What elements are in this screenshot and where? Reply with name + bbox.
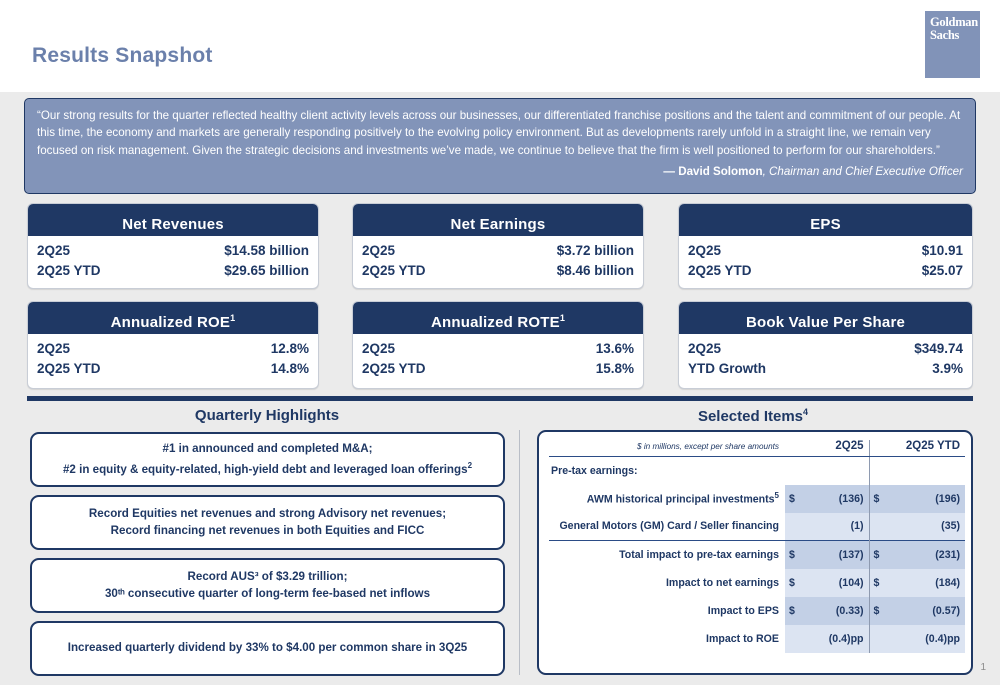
metric-title-footnote: 1 [560, 313, 565, 323]
row-label: AWM historical principal investments5 [549, 485, 785, 513]
metric-row: 2Q2512.8% [37, 339, 309, 359]
metric-row-label: 2Q25 YTD [37, 261, 101, 281]
metric-row-label: 2Q25 [37, 339, 70, 359]
row-label: Impact to net earnings [549, 569, 785, 597]
row-value-2q25: (0.33) [802, 597, 869, 625]
row-currency [785, 513, 802, 541]
metric-card-net-revenues: Net Revenues 2Q25$14.58 billion 2Q25 YTD… [27, 203, 319, 289]
column-header-2q25-ytd: 2Q25 YTD [869, 440, 965, 457]
metric-row: 2Q25 YTD$29.65 billion [37, 261, 309, 281]
metric-row: 2Q25 YTD15.8% [362, 359, 634, 379]
metric-row-label: 2Q25 YTD [362, 359, 426, 379]
highlight-line-2: #2 in equity & equity-related, high-yiel… [63, 462, 468, 475]
row-value-ytd: (231) [886, 541, 965, 569]
ceo-quote-text: “Our strong results for the quarter refl… [37, 107, 963, 159]
table-row: General Motors (GM) Card / Seller financ… [549, 513, 965, 541]
highlight-line-2: 30ᵗʰ consecutive quarter of long-term fe… [105, 587, 430, 600]
highlight-text: Record AUS³ of $3.29 trillion; 30ᵗʰ cons… [105, 569, 430, 602]
row-label-text: Impact to EPS [708, 605, 779, 617]
metric-row-value: 12.8% [271, 339, 309, 359]
metric-row-label: 2Q25 YTD [37, 359, 101, 379]
table-row: Impact to EPS $ (0.33) $ (0.57) [549, 597, 965, 625]
quote-author-name: David Solomon [678, 165, 762, 178]
row-label-text: Impact to net earnings [666, 577, 779, 589]
row-label-text: Impact to ROE [706, 633, 779, 645]
spacer-cell [785, 457, 802, 485]
slide-header: Results Snapshot Goldman Sachs [0, 0, 1000, 92]
metric-card-body: 2Q25$14.58 billion 2Q25 YTD$29.65 billio… [28, 236, 318, 286]
spacer-cell [869, 457, 886, 485]
highlight-line-1: #1 in announced and completed M&A; [163, 442, 373, 455]
goldman-sachs-logo: Goldman Sachs [925, 11, 980, 78]
metric-card-body: 2Q25$3.72 billion 2Q25 YTD$8.46 billion [353, 236, 643, 286]
section-divider-bar [27, 396, 973, 401]
metric-card-title: Annualized ROTE1 [353, 302, 643, 334]
selected-items-title: Selected Items4 [533, 407, 973, 425]
units-note: $ in millions, except per share amounts [549, 440, 785, 457]
column-header-2q25: 2Q25 [785, 440, 869, 457]
metric-row-value: $3.72 billion [557, 241, 634, 261]
metric-row-value: 14.8% [271, 359, 309, 379]
metric-row-value: $25.07 [922, 261, 963, 281]
row-value-2q25: (1) [802, 513, 869, 541]
quote-author-role: , Chairman and Chief Executive Officer [763, 165, 963, 178]
row-value-ytd: (196) [886, 485, 965, 513]
row-label: General Motors (GM) Card / Seller financ… [549, 513, 785, 541]
metric-title-text: Annualized ROTE [431, 314, 560, 331]
metric-card-annualized-rote: Annualized ROTE1 2Q2513.6% 2Q25 YTD15.8% [352, 301, 644, 389]
ceo-quote-attribution: — David Solomon, Chairman and Chief Exec… [37, 165, 963, 178]
metric-row-label: 2Q25 [688, 241, 721, 261]
metric-title-text: EPS [810, 216, 841, 233]
slide-root: Results Snapshot Goldman Sachs “Our stro… [0, 0, 1000, 685]
metric-title-footnote: 1 [230, 313, 235, 323]
selected-items-card: $ in millions, except per share amounts … [537, 430, 973, 675]
table-row: Total impact to pre-tax earnings $ (137)… [549, 541, 965, 569]
metric-row-value: 3.9% [932, 359, 963, 379]
metric-row: 2Q25 YTD14.8% [37, 359, 309, 379]
metric-row: YTD Growth3.9% [688, 359, 963, 379]
metric-title-text: Net Earnings [451, 216, 546, 233]
highlight-text: #1 in announced and completed M&A; #2 in… [63, 441, 472, 478]
spacer-cell [802, 457, 869, 485]
metric-card-net-earnings: Net Earnings 2Q25$3.72 billion 2Q25 YTD$… [352, 203, 644, 289]
ceo-quote-box: “Our strong results for the quarter refl… [24, 98, 976, 194]
quote-dash: — [663, 165, 678, 178]
metric-card-title: Net Revenues [28, 204, 318, 236]
vertical-divider [519, 430, 520, 675]
selected-items-table: $ in millions, except per share amounts … [549, 440, 965, 653]
metric-title-text: Book Value Per Share [746, 314, 905, 331]
row-label: Impact to ROE [549, 625, 785, 653]
metric-row: 2Q25$14.58 billion [37, 241, 309, 261]
row-label-text: General Motors (GM) Card / Seller financ… [559, 520, 779, 532]
table-row: Impact to ROE (0.4)pp (0.4)pp [549, 625, 965, 653]
highlight-text: Increased quarterly dividend by 33% to $… [68, 640, 468, 657]
row-currency: $ [869, 541, 886, 569]
metric-card-annualized-roe: Annualized ROE1 2Q2512.8% 2Q25 YTD14.8% [27, 301, 319, 389]
metric-row-value: $10.91 [922, 241, 963, 261]
metric-row-value: $14.58 billion [224, 241, 309, 261]
row-currency: $ [869, 569, 886, 597]
highlight-item: Increased quarterly dividend by 33% to $… [30, 621, 505, 676]
metric-row-label: 2Q25 YTD [688, 261, 752, 281]
metric-card-book-value-per-share: Book Value Per Share 2Q25$349.74 YTD Gro… [678, 301, 973, 389]
row-value-ytd: (0.4)pp [886, 625, 965, 653]
metric-row-value: $8.46 billion [557, 261, 634, 281]
metric-row: 2Q25$349.74 [688, 339, 963, 359]
table-row: Impact to net earnings $ (104) $ (184) [549, 569, 965, 597]
metric-row-label: YTD Growth [688, 359, 766, 379]
selected-items-title-text: Selected Items [698, 408, 803, 425]
row-value-2q25: (136) [802, 485, 869, 513]
metric-card-title: Net Earnings [353, 204, 643, 236]
metric-row-label: 2Q25 YTD [362, 261, 426, 281]
row-currency [785, 625, 802, 653]
selected-items-title-footnote: 4 [803, 407, 808, 417]
highlight-text: Record Equities net revenues and strong … [89, 506, 446, 539]
highlight-item: Record Equities net revenues and strong … [30, 495, 505, 550]
highlight-line-1: Record Equities net revenues and strong … [89, 507, 446, 520]
row-currency [869, 513, 886, 541]
row-currency: $ [869, 485, 886, 513]
table-row: AWM historical principal investments5 $ … [549, 485, 965, 513]
metric-card-title: Annualized ROE1 [28, 302, 318, 334]
metric-row-value: 15.8% [596, 359, 634, 379]
highlight-line-1: Record AUS³ of $3.29 trillion; [188, 570, 348, 583]
row-currency: $ [785, 541, 802, 569]
row-value-2q25: (0.4)pp [802, 625, 869, 653]
metric-row: 2Q25$3.72 billion [362, 241, 634, 261]
metric-row-label: 2Q25 [362, 241, 395, 261]
row-currency: $ [785, 597, 802, 625]
highlight-item: Record AUS³ of $3.29 trillion; 30ᵗʰ cons… [30, 558, 505, 613]
metric-card-title: Book Value Per Share [679, 302, 972, 334]
metric-title-text: Annualized ROE [111, 314, 230, 331]
page-number: 1 [980, 662, 986, 673]
row-value-ytd: (0.57) [886, 597, 965, 625]
metric-row: 2Q2513.6% [362, 339, 634, 359]
row-currency: $ [785, 569, 802, 597]
page-title: Results Snapshot [32, 44, 213, 68]
highlight-item: #1 in announced and completed M&A; #2 in… [30, 432, 505, 487]
highlight-line-2: Record financing net revenues in both Eq… [111, 524, 425, 537]
row-value-2q25: (104) [802, 569, 869, 597]
row-value-ytd: (184) [886, 569, 965, 597]
spacer-cell [886, 457, 965, 485]
metric-row-value: $349.74 [914, 339, 963, 359]
metric-card-body: 2Q25$349.74 YTD Growth3.9% [679, 334, 972, 384]
row-label: Total impact to pre-tax earnings [549, 541, 785, 569]
metric-row: 2Q25$10.91 [688, 241, 963, 261]
metric-row-value: $29.65 billion [224, 261, 309, 281]
metric-row-label: 2Q25 [362, 339, 395, 359]
highlight-footnote: 2 [468, 461, 472, 470]
row-currency [869, 625, 886, 653]
row-label-text: AWM historical principal investments [587, 494, 775, 506]
row-value-2q25: (137) [802, 541, 869, 569]
metric-card-eps: EPS 2Q25$10.91 2Q25 YTD$25.07 [678, 203, 973, 289]
quarterly-highlights-title: Quarterly Highlights [27, 407, 507, 424]
metric-card-body: 2Q25$10.91 2Q25 YTD$25.07 [679, 236, 972, 286]
metric-card-body: 2Q2512.8% 2Q25 YTD14.8% [28, 334, 318, 384]
metric-row-value: 13.6% [596, 339, 634, 359]
metric-row: 2Q25 YTD$25.07 [688, 261, 963, 281]
row-label-footnote: 5 [775, 491, 779, 500]
row-currency: $ [785, 485, 802, 513]
logo-line-2: Sachs [930, 29, 980, 42]
group-label: Pre-tax earnings: [549, 457, 785, 485]
metric-card-body: 2Q2513.6% 2Q25 YTD15.8% [353, 334, 643, 384]
highlight-line-1: Increased quarterly dividend by 33% to $… [68, 641, 468, 654]
metric-card-title: EPS [679, 204, 972, 236]
metric-title-text: Net Revenues [122, 216, 224, 233]
table-group-row: Pre-tax earnings: [549, 457, 965, 485]
metric-row-label: 2Q25 [688, 339, 721, 359]
row-value-ytd: (35) [886, 513, 965, 541]
table-header-row: $ in millions, except per share amounts … [549, 440, 965, 457]
metric-row-label: 2Q25 [37, 241, 70, 261]
metric-row: 2Q25 YTD$8.46 billion [362, 261, 634, 281]
row-label-text: Total impact to pre-tax earnings [619, 549, 779, 561]
row-currency: $ [869, 597, 886, 625]
row-label: Impact to EPS [549, 597, 785, 625]
